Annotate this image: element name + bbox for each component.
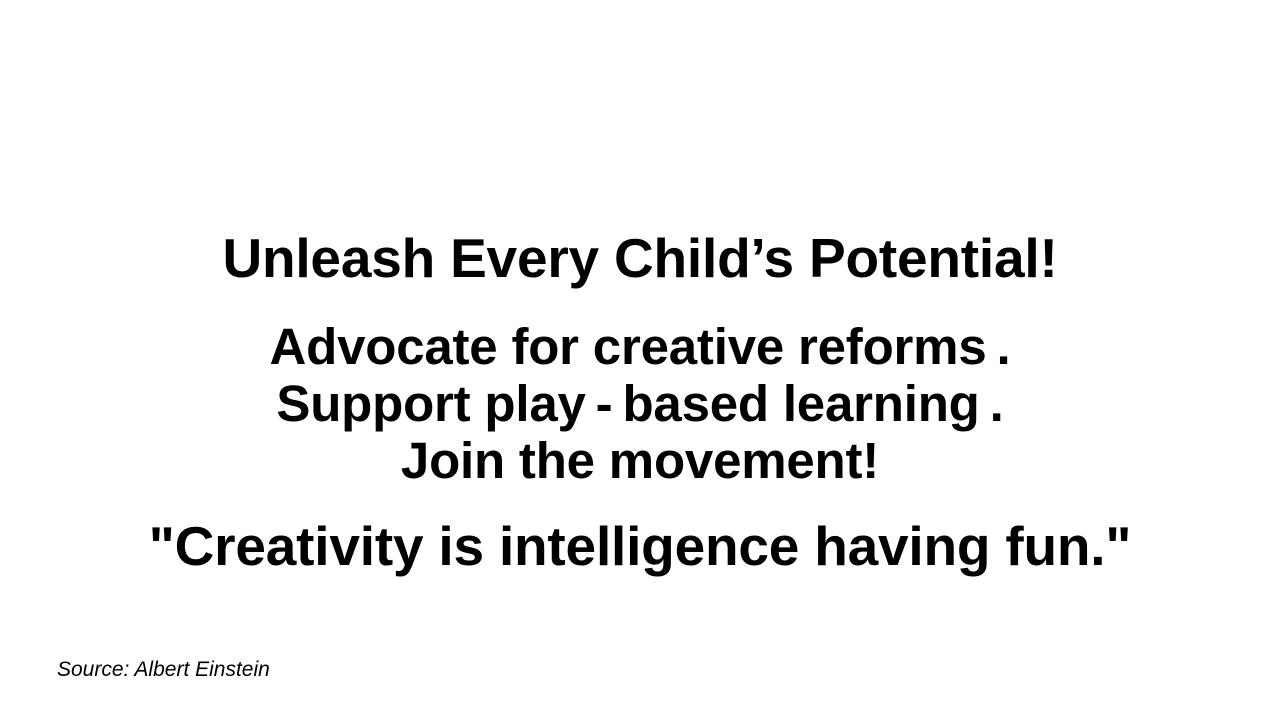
call-to-action-line-1: Advocate for creative reforms . [0, 318, 1280, 375]
slide-canvas: Unleash Every Child’s Potential! Advocat… [0, 0, 1280, 720]
slide-content: Unleash Every Child’s Potential! Advocat… [0, 0, 1280, 720]
call-to-action-block: Advocate for creative reforms . Support … [0, 318, 1280, 489]
call-to-action-line-2: Support play - based learning . [0, 375, 1280, 432]
page-title: Unleash Every Child’s Potential! [0, 225, 1280, 291]
call-to-action-line-3: Join the movement! [0, 432, 1280, 489]
quotation-text: "Creativity is intelligence having fun." [0, 513, 1280, 579]
source-attribution: Source: Albert Einstein [57, 655, 270, 685]
